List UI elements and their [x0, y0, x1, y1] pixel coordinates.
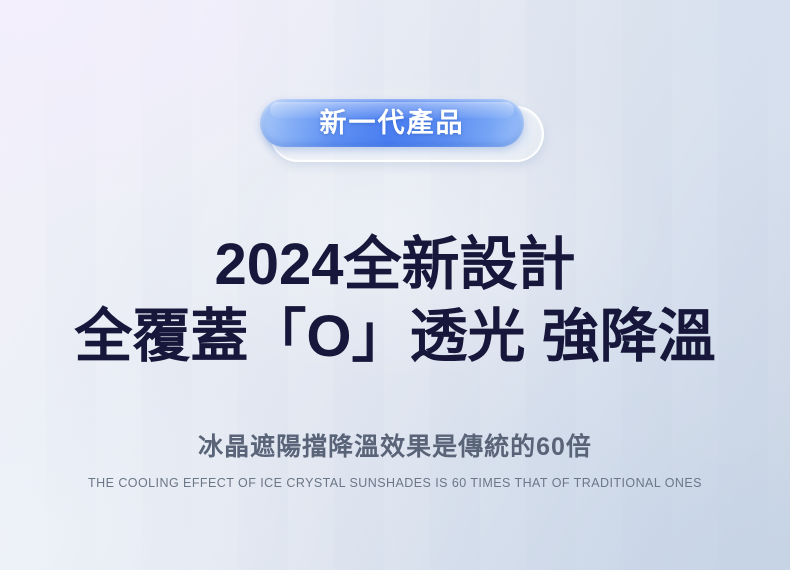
headline-line-1: 2024全新設計 — [0, 234, 790, 295]
hero-content: 新一代產品 2024全新設計 全覆蓋「O」透光 強降溫 冰晶遮陽擋降溫效果是傳統… — [0, 0, 790, 570]
new-generation-badge[interactable]: 新一代產品 — [252, 92, 538, 162]
subtitle-chinese: 冰晶遮陽擋降溫效果是傳統的60倍 — [0, 432, 790, 462]
badge-label: 新一代產品 — [320, 110, 465, 137]
headline-line-2: 全覆蓋「O」透光 強降溫 — [0, 305, 790, 370]
promo-hero-banner: 新一代產品 2024全新設計 全覆蓋「O」透光 強降溫 冰晶遮陽擋降溫效果是傳統… — [0, 0, 790, 570]
badge-pill-body: 新一代產品 — [260, 99, 524, 147]
subtitle-block: 冰晶遮陽擋降溫效果是傳統的60倍 THE COOLING EFFECT OF I… — [0, 432, 790, 491]
headline-block: 2024全新設計 全覆蓋「O」透光 強降溫 — [0, 234, 790, 370]
subtitle-english-caption: THE COOLING EFFECT OF ICE CRYSTAL SUNSHA… — [0, 476, 790, 491]
